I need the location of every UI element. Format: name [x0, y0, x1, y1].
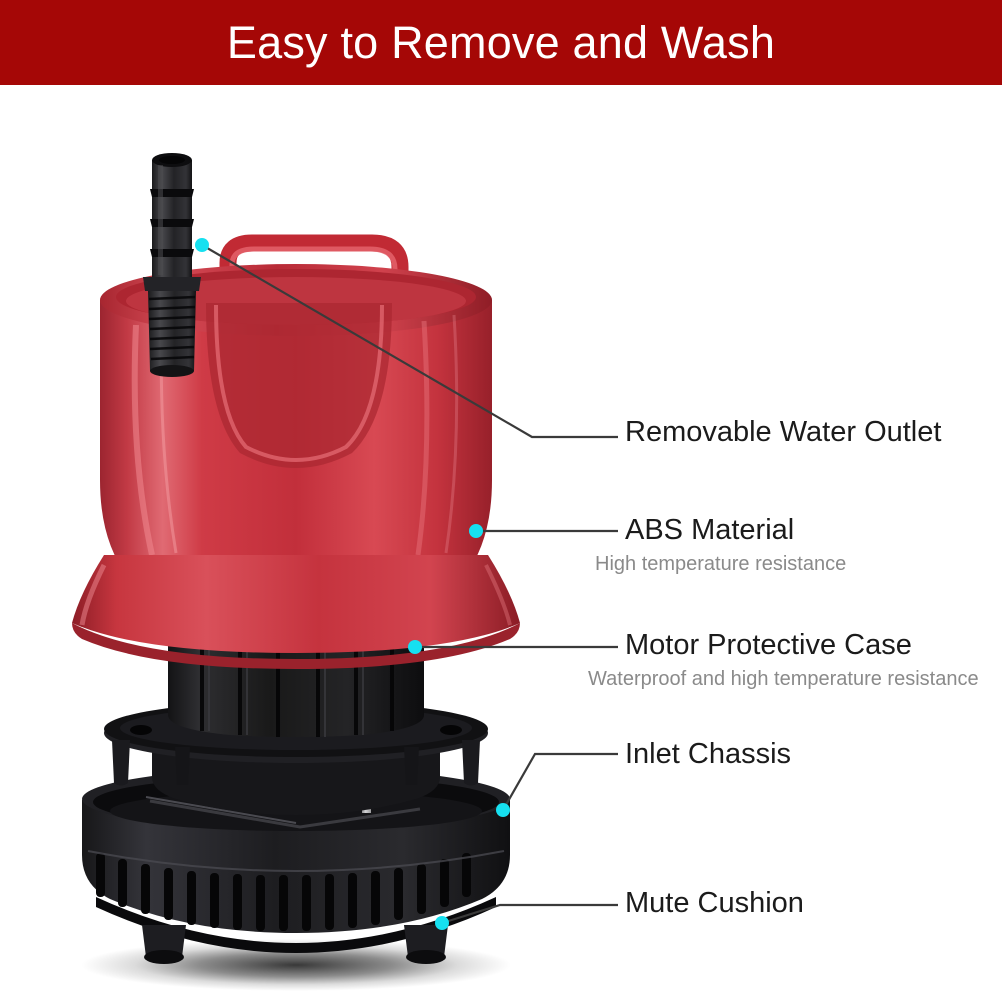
product-illustration [0, 85, 1002, 1002]
callout-title: Removable Water Outlet [625, 417, 941, 447]
header-banner: Easy to Remove and Wash [0, 0, 1002, 85]
product-exploded-view [0, 85, 1002, 1002]
red-abs-housing [72, 243, 520, 669]
callout-title: ABS Material [625, 515, 846, 545]
callout-subtitle: High temperature resistance [595, 554, 846, 575]
marker-motor-protective-case [408, 640, 422, 654]
callout-removable-water-outlet: Removable Water Outlet [625, 417, 941, 447]
callout-inlet-chassis: Inlet Chassis [625, 739, 791, 769]
marker-mute-cushion [435, 916, 449, 930]
marker-removable-water-outlet [195, 238, 209, 252]
callout-title: Mute Cushion [625, 888, 804, 918]
callout-subtitle: Waterproof and high temperature resistan… [588, 669, 979, 690]
callout-abs-material: ABS Material High temperature resistance [625, 515, 846, 575]
callout-motor-protective-case: Motor Protective Case Waterproof and hig… [625, 630, 979, 690]
leader-inlet-chassis [503, 754, 618, 810]
marker-abs-material [469, 524, 483, 538]
removable-water-outlet [143, 153, 201, 377]
callout-title: Motor Protective Case [625, 630, 979, 660]
callout-title: Inlet Chassis [625, 739, 791, 769]
marker-inlet-chassis [496, 803, 510, 817]
product-infographic: Easy to Remove and Wash [0, 0, 1002, 1002]
leader-mute-cushion [442, 905, 618, 923]
banner-title: Easy to Remove and Wash [227, 20, 775, 65]
callout-mute-cushion: Mute Cushion [625, 888, 804, 918]
